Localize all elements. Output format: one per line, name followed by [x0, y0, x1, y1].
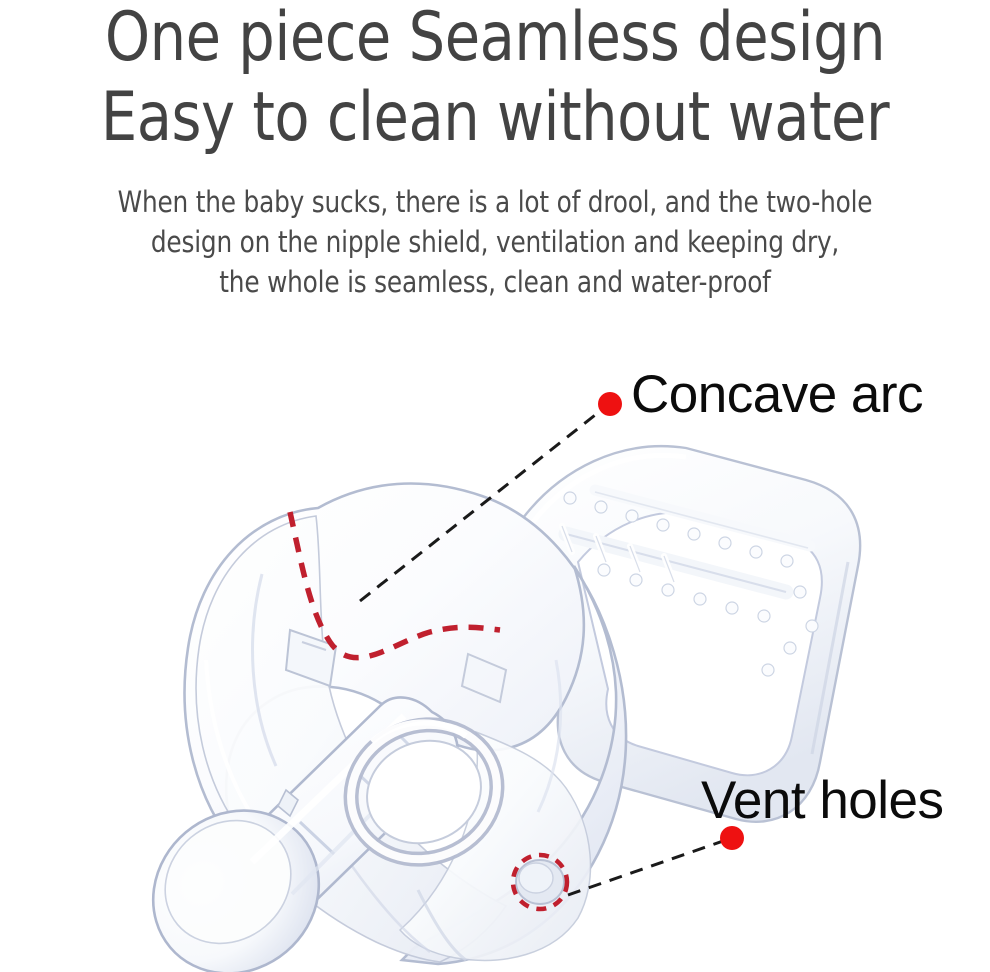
headline-line-2: Easy to clean without water — [30, 78, 961, 158]
description-line-3: the whole is seamless, clean and water-p… — [25, 262, 966, 302]
page-title: One piece Seamless design Easy to clean … — [30, 0, 961, 158]
description-line-1: When the baby sucks, there is a lot of d… — [25, 182, 966, 222]
infographic-canvas: One piece Seamless design Easy to clean … — [0, 0, 990, 972]
description-line-2: design on the nipple shield, ventilation… — [25, 222, 966, 262]
callout-label-concave-arc: Concave arc — [631, 368, 923, 421]
concave-arc-dot-icon — [598, 392, 622, 416]
description-paragraph: When the baby sucks, there is a lot of d… — [25, 182, 966, 302]
product-illustration — [0, 330, 990, 972]
vent-hole — [516, 860, 564, 904]
headline-line-1: One piece Seamless design — [30, 0, 961, 78]
callout-label-vent-holes: Vent holes — [701, 774, 944, 827]
